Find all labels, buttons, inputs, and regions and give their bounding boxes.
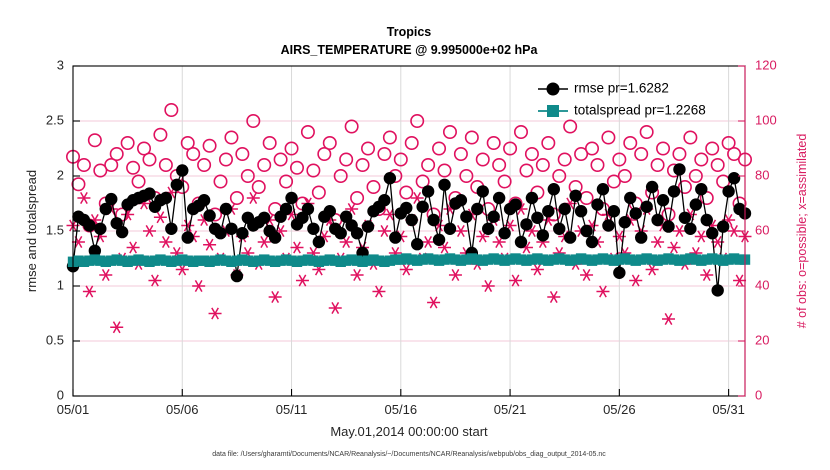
legend-marker-totalspread [547, 105, 559, 117]
y-tick-label-right: 0 [755, 387, 762, 402]
y-tick-label-left: 2.5 [46, 112, 64, 127]
x-tick-label: 05/21 [494, 402, 527, 417]
x-tick-label: 05/06 [166, 402, 199, 417]
y-tick-label-left: 1.5 [46, 222, 64, 237]
y-tick-label-right: 120 [755, 57, 777, 72]
chart-title-line1: Tropics [387, 25, 432, 39]
legend-marker-rmse [547, 83, 560, 96]
y-tick-label-right: 100 [755, 112, 777, 127]
x-tick-label: 05/31 [712, 402, 745, 417]
x-tick-label: 05/01 [57, 402, 90, 417]
y-tick-label-left: 0.5 [46, 332, 64, 347]
legend-label-totalspread: totalspread pr=1.2268 [574, 103, 706, 118]
plot-figure: Tropics AIRS_TEMPERATURE @ 9.995000e+02 … [0, 0, 830, 470]
chart-title-line2: AIRS_TEMPERATURE @ 9.995000e+02 hPa [281, 43, 539, 57]
x-tick-label: 05/26 [603, 402, 636, 417]
legend-label-rmse: rmse pr=1.6282 [574, 81, 669, 96]
x-axis-label: May.01,2014 00:00:00 start [330, 424, 488, 439]
y-axis-label-right: # of obs: o=possible; x=assimilated [795, 134, 809, 329]
x-tick-label: 05/16 [385, 402, 418, 417]
y-axis-label-left: rmse and totalspread [24, 170, 39, 292]
y-tick-label-left: 1 [57, 277, 64, 292]
y-tick-label-right: 20 [755, 332, 769, 347]
y-tick-label-right: 60 [755, 222, 769, 237]
y-tick-label-left: 2 [57, 167, 64, 182]
data-file-footer: data file: /Users/gharamti/Documents/NCA… [212, 451, 606, 458]
y-tick-label-left: 3 [57, 57, 64, 72]
y-tick-label-right: 80 [755, 167, 769, 182]
x-tick-label: 05/11 [276, 402, 308, 417]
plot-svg: Tropics AIRS_TEMPERATURE @ 9.995000e+02 … [0, 0, 830, 470]
y-tick-label-right: 40 [755, 277, 769, 292]
y-tick-label-left: 0 [57, 387, 64, 402]
